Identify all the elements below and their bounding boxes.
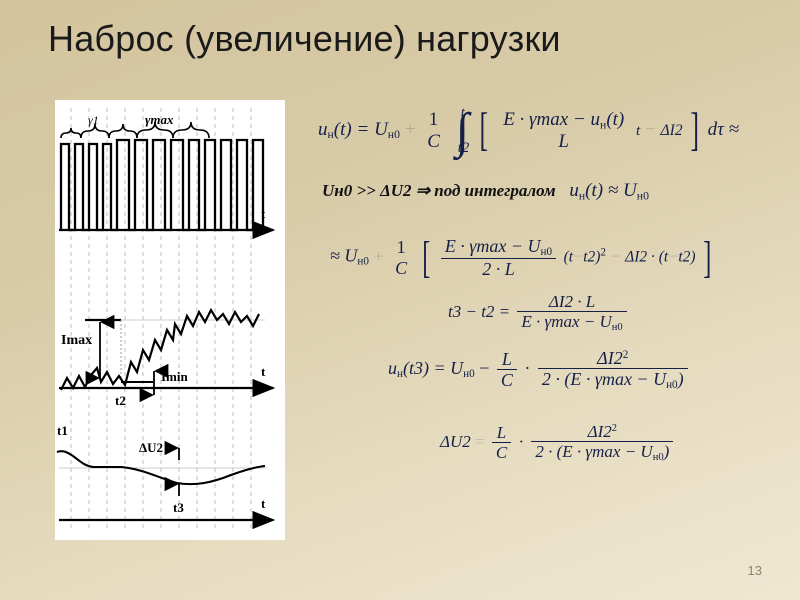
eq3-delta-i2: ΔI2 · (t <box>625 249 668 266</box>
eq5-frac-main: ΔI22 2 · (E · γmax − Uн0) <box>538 348 688 392</box>
label-imin: Imin <box>161 369 189 384</box>
eq6-frac2-num: ΔI22 <box>531 422 673 441</box>
eq6-frac2-den-txt: 2 · (E · γmax − U <box>535 442 652 461</box>
line2-U: U <box>623 180 637 201</box>
voltage-axis-label-t: t <box>261 496 266 511</box>
label-imax: Imax <box>61 333 92 348</box>
bracket-close-icon: ] <box>691 104 700 157</box>
current-waveform <box>61 310 259 390</box>
equation-1: uн(t) = Uн0 + 1 C ∫tt2 [ E · γmax − uн(t… <box>318 104 739 157</box>
eq3-inner-num-txt: E · γmax − U <box>445 236 541 256</box>
assumption-text: Uн0 >> ΔU2 ⇒ под интегралом <box>322 181 556 200</box>
eq5-frac1-num: L <box>497 349 517 369</box>
eq5-frac2-num-sup: 2 <box>623 349 629 361</box>
bracket-close-icon-2: ] <box>703 232 711 283</box>
eq6-lhs: ΔU2 <box>440 432 471 451</box>
eq5-frac2-den-txt: 2 · (E · γmax − U <box>542 369 666 389</box>
eq1-arg: (t) = <box>334 119 370 140</box>
eq6-dot: · <box>518 432 524 451</box>
pwm-waveform <box>61 140 263 230</box>
eq1-frac-num: 1 <box>423 109 444 130</box>
duty-braces <box>61 122 209 138</box>
eq6-frac2-den-sub: н0 <box>653 452 664 463</box>
eq5-u: u <box>388 358 397 378</box>
eq4-den-sub: н0 <box>612 322 623 333</box>
eq5-frac2-num-txt: ΔI2 <box>597 348 623 368</box>
bracket-open-icon: [ <box>479 104 488 157</box>
eq1-u: u <box>318 119 328 140</box>
eq5-frac2-num: ΔI22 <box>538 348 688 368</box>
assumption-line: Uн0 >> ΔU2 ⇒ под интегралом uн(t) ≈ Uн0 <box>322 180 649 203</box>
eq1-inner-num-u-arg: (t) <box>606 109 624 130</box>
eq1-inner-frac: E · γmax − uн(t) L <box>499 109 628 153</box>
eq1-frac-den: C <box>423 131 444 152</box>
eq5-frac2-den-sub: н0 <box>666 379 678 391</box>
eq3-tail: t2) <box>678 249 695 266</box>
waveform-svg: γ1 γmax t t Imax <box>55 100 285 540</box>
eq1-inner-num-a: E · γmax − <box>503 109 586 130</box>
eq3-U-sub: н0 <box>357 256 369 268</box>
slide-canvas: Наброс (увеличение) нагрузки <box>0 0 800 600</box>
label-gamma-max: γmax <box>145 112 174 127</box>
pwm-axis-label-t: t <box>261 206 266 221</box>
eq1-plus: + <box>405 119 416 140</box>
eq1-frac-1C: 1 C <box>423 109 444 152</box>
equation-4: t3 − t2 = ΔI2 · L E · γmax − Uн0 <box>448 292 630 334</box>
assumption-math: uн(t) ≈ Uн0 <box>560 180 649 201</box>
line2-u: u <box>569 180 579 201</box>
eq1-int-lower: t2 <box>458 143 470 154</box>
eq1-int-upper: t <box>461 108 465 119</box>
integral-sign-icon: ∫tt2 <box>456 112 470 149</box>
eq3-minus2: − <box>610 246 620 266</box>
line2-U-sub: н0 <box>637 189 649 202</box>
eq3-inner-frac: E · γmax − Uн0 2 · L <box>441 236 556 280</box>
eq4-num: ΔI2 · L <box>517 292 626 311</box>
eq5-arg: (t3) = <box>403 358 446 378</box>
line2-arg: (t) ≈ <box>585 180 618 201</box>
eq3-paren1-end: t2) <box>583 249 600 266</box>
eq6-equals: = <box>475 432 485 451</box>
equation-6: ΔU2 = L C · ΔI22 2 · (E · γmax − Uн0) <box>440 422 676 464</box>
eq3-plus: + <box>373 246 383 266</box>
eq6-frac1-num: L <box>492 423 511 442</box>
eq1-U-sub: н0 <box>388 128 400 141</box>
eq5-frac1-den: C <box>497 369 517 390</box>
eq5-frac-LC: L C <box>497 349 517 390</box>
eq5-frac2-den: 2 · (E · γmax − Uн0) <box>538 368 688 392</box>
eq1-inner-num-u: u <box>591 109 601 130</box>
eq3-frac-1C: 1 C <box>391 237 411 277</box>
eq6-frac2-den-end: ) <box>664 442 670 461</box>
eq1-delta-i2: ΔI2 <box>660 122 682 139</box>
eq5-frac2-den-end: ) <box>678 369 684 389</box>
eq5-minus: − <box>479 358 489 378</box>
panel-current: t Imax Imin t2 <box>59 310 273 408</box>
eq1-U: U <box>374 119 388 140</box>
eq4-den: E · γmax − Uн0 <box>517 311 626 334</box>
equation-5: uн(t3) = Uн0 − L C · ΔI22 2 · (E · γmax … <box>388 348 691 392</box>
label-delta-u2: ΔU2 <box>139 440 163 455</box>
eq6-frac2-num-txt: ΔI2 <box>588 422 612 441</box>
label-t1: t1 <box>57 423 68 438</box>
eq4-lhs: t3 − t2 = <box>448 302 510 321</box>
eq3-sup2: 2 <box>600 247 606 259</box>
label-t3: t3 <box>173 500 184 515</box>
eq4-den-txt: E · γmax − U <box>521 312 611 331</box>
eq3-frac-num: 1 <box>391 237 411 257</box>
eq6-frac1-den: C <box>492 442 511 462</box>
eq3-inner-den: 2 · L <box>441 258 556 279</box>
page-title: Наброс (увеличение) нагрузки <box>48 18 768 60</box>
eq6-frac-LC: L C <box>492 423 511 462</box>
eq3-inner-num-sub: н0 <box>541 246 553 258</box>
label-t2: t2 <box>115 393 126 408</box>
eq5-U: U <box>450 358 463 378</box>
eq3-U: U <box>344 246 357 266</box>
eq6-frac2-den: 2 · (E · γmax − Uн0) <box>531 441 673 464</box>
eq5-dot: · <box>524 358 530 378</box>
panel-pwm: γ1 γmax t <box>59 112 273 230</box>
equation-3: ≈ Uн0 + 1 C [ E · γmax − Uн0 2 · L (t−t2… <box>330 232 715 283</box>
eq3-approx: ≈ <box>330 246 340 266</box>
waveform-figure: γ1 γmax t t Imax <box>55 100 285 540</box>
page-number: 13 <box>748 563 762 578</box>
eq3-inner-num: E · γmax − Uн0 <box>441 236 556 259</box>
eq1-inner-den: L <box>499 131 628 152</box>
eq1-dtau: dτ ≈ <box>708 119 739 140</box>
bracket-open-icon-2: [ <box>422 232 430 283</box>
eq6-frac-main: ΔI22 2 · (E · γmax − Uн0) <box>531 422 673 464</box>
eq1-minus2: − <box>645 119 656 140</box>
eq6-frac2-num-sup: 2 <box>612 423 617 434</box>
eq3-paren1: (t <box>564 249 573 266</box>
eq3-minus3: − <box>668 246 678 266</box>
eq4-frac: ΔI2 · L E · γmax − Uн0 <box>517 292 626 334</box>
eq1-term-t: t <box>636 122 640 139</box>
eq1-inner-num: E · γmax − uн(t) <box>499 109 628 131</box>
eq3-minus1: − <box>573 246 583 266</box>
current-axis-label-t: t <box>261 364 266 379</box>
eq3-frac-den: C <box>391 258 411 278</box>
eq5-U-sub: н0 <box>463 368 475 380</box>
label-gamma1: γ1 <box>88 113 99 127</box>
